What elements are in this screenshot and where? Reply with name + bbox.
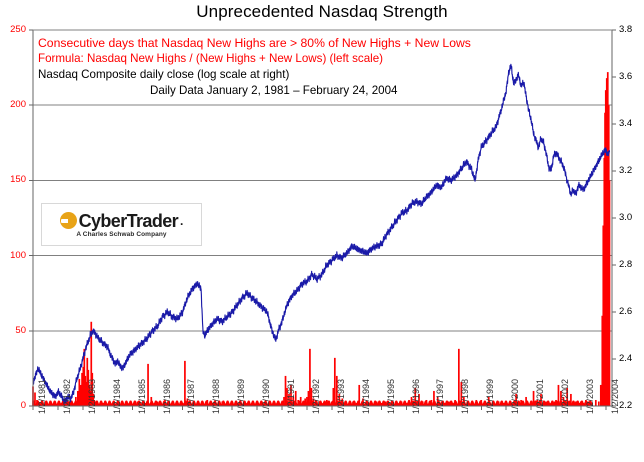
- x-axis-tick-label: 1/2/1996: [411, 379, 421, 414]
- logo-name: CyberTrader: [79, 212, 178, 230]
- right-axis-tick-label: 2.4: [619, 353, 644, 364]
- x-axis-tick-label: 1/2/1986: [162, 379, 172, 414]
- x-axis-tick-label: 1/2/1987: [186, 379, 196, 414]
- x-axis-tick-label: 1/2/1998: [460, 379, 470, 414]
- x-axis-tick-label: 1/2/2001: [535, 379, 545, 414]
- x-axis-tick-label: 1/2/2003: [585, 379, 595, 414]
- x-axis-tick-label: 1/2/1985: [137, 379, 147, 414]
- x-axis-tick-label: 1/2/1995: [386, 379, 396, 414]
- annotation-line-2: Formula: Nasdaq New Highs / (New Highs +…: [38, 52, 383, 65]
- x-axis-tick-label: 1/2/1991: [286, 379, 296, 414]
- x-axis-tick-label: 1/2/1983: [87, 379, 97, 414]
- x-axis-tick-label: 1/2/2000: [510, 379, 520, 414]
- left-axis-tick-label: 50: [0, 325, 26, 336]
- right-axis-tick-label: 2.6: [619, 306, 644, 317]
- right-axis-tick-label: 2.8: [619, 259, 644, 270]
- x-axis-tick-label: 1/2/1981: [37, 379, 47, 414]
- logo-period: .: [180, 214, 183, 228]
- annotation-line-3: Nasdaq Composite daily close (log scale …: [38, 68, 289, 81]
- x-axis-tick-label: 1/2/1994: [361, 379, 371, 414]
- chart-container: Unprecedented Nasdaq Strength Consecutiv…: [0, 0, 644, 462]
- annotation-line-1: Consecutive days that Nasdaq New Highs a…: [38, 36, 471, 50]
- left-axis-tick-label: 200: [0, 99, 26, 110]
- logo-tagline: A Charles Schwab Company: [76, 231, 166, 238]
- cybertrader-swirl-icon: [60, 212, 77, 229]
- x-axis-tick-label: 1/2/1989: [236, 379, 246, 414]
- right-axis-tick-label: 3.0: [619, 212, 644, 223]
- x-axis-tick-label: 1/2/1999: [485, 379, 495, 414]
- x-axis-tick-label: 1/2/1984: [112, 379, 122, 414]
- x-axis-tick-label: 1/2/1990: [261, 379, 271, 414]
- left-axis-tick-label: 100: [0, 250, 26, 261]
- x-axis-tick-label: 1/2/1997: [435, 379, 445, 414]
- x-axis-tick-label: 1/2/1988: [211, 379, 221, 414]
- x-axis-tick-label: 1/2/1992: [311, 379, 321, 414]
- right-axis-tick-label: 3.8: [619, 24, 644, 35]
- cybertrader-logo: CyberTrader . A Charles Schwab Company: [41, 203, 202, 246]
- right-axis-tick-label: 3.2: [619, 165, 644, 176]
- right-axis-tick-label: 2.2: [619, 400, 644, 411]
- x-axis-tick-label: 1/2/2004: [610, 379, 620, 414]
- x-axis-tick-label: 1/2/2002: [560, 379, 570, 414]
- logo-wordmark-row: CyberTrader .: [60, 212, 184, 230]
- left-axis-tick-label: 150: [0, 174, 26, 185]
- x-axis-tick-label: 1/2/1993: [336, 379, 346, 414]
- chart-subtitle: Daily Data January 2, 1981 – February 24…: [150, 84, 397, 97]
- left-axis-tick-label: 0: [0, 400, 26, 411]
- right-axis-tick-label: 3.6: [619, 71, 644, 82]
- right-axis-tick-label: 3.4: [619, 118, 644, 129]
- x-axis-tick-label: 1/2/1982: [62, 379, 72, 414]
- left-axis-tick-label: 250: [0, 24, 26, 35]
- chart-title: Unprecedented Nasdaq Strength: [0, 2, 644, 22]
